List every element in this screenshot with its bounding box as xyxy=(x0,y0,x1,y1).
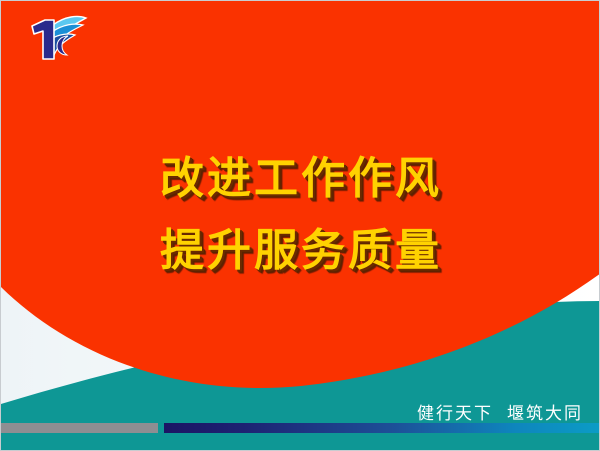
company-logo xyxy=(23,12,91,64)
slide-background-artwork xyxy=(1,1,600,451)
logo-mark-icon xyxy=(23,12,91,64)
blue-gradient-rule xyxy=(164,423,600,433)
tagline-part-2: 堰筑大同 xyxy=(507,404,583,424)
slide-tagline: 健行天下堰筑大同 xyxy=(417,399,583,424)
presentation-slide: 改进工作作风 提升服务质量 健行天下堰筑大同 xyxy=(0,0,600,451)
logo-wing-icon xyxy=(51,16,86,58)
tagline-part-1: 健行天下 xyxy=(417,404,493,424)
gray-rule xyxy=(1,423,158,433)
logo-numeral-icon xyxy=(32,20,54,59)
